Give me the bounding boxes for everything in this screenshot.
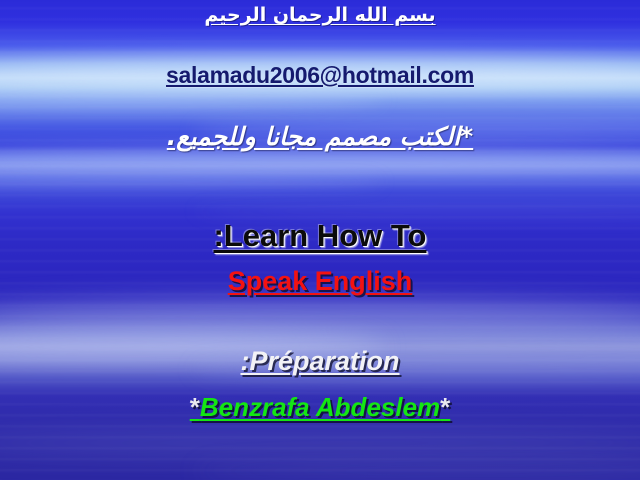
presentation-slide: بسم الله الرحمان الرحيم salamadu2006@hot… xyxy=(0,0,640,480)
title-learn-how-to: :Learn How To xyxy=(0,218,640,254)
slide-content: بسم الله الرحمان الرحيم salamadu2006@hot… xyxy=(0,0,640,480)
asterisk-suffix-icon: * xyxy=(440,392,450,422)
author-name: Benzrafa Abdeslem xyxy=(200,392,440,422)
preparation-label: :Préparation xyxy=(0,346,640,377)
asterisk-prefix-icon: * xyxy=(190,392,200,422)
basmala-text: بسم الله الرحمان الرحيم xyxy=(0,4,640,26)
subtitle-speak-english: Speak English xyxy=(0,266,640,297)
author-credit: *Benzrafa Abdeslem* xyxy=(0,392,640,423)
arabic-note-text: *الكتب مصمم مجانا وللجميع. xyxy=(0,122,640,151)
email-address-text[interactable]: salamadu2006@hotmail.com xyxy=(0,62,640,89)
